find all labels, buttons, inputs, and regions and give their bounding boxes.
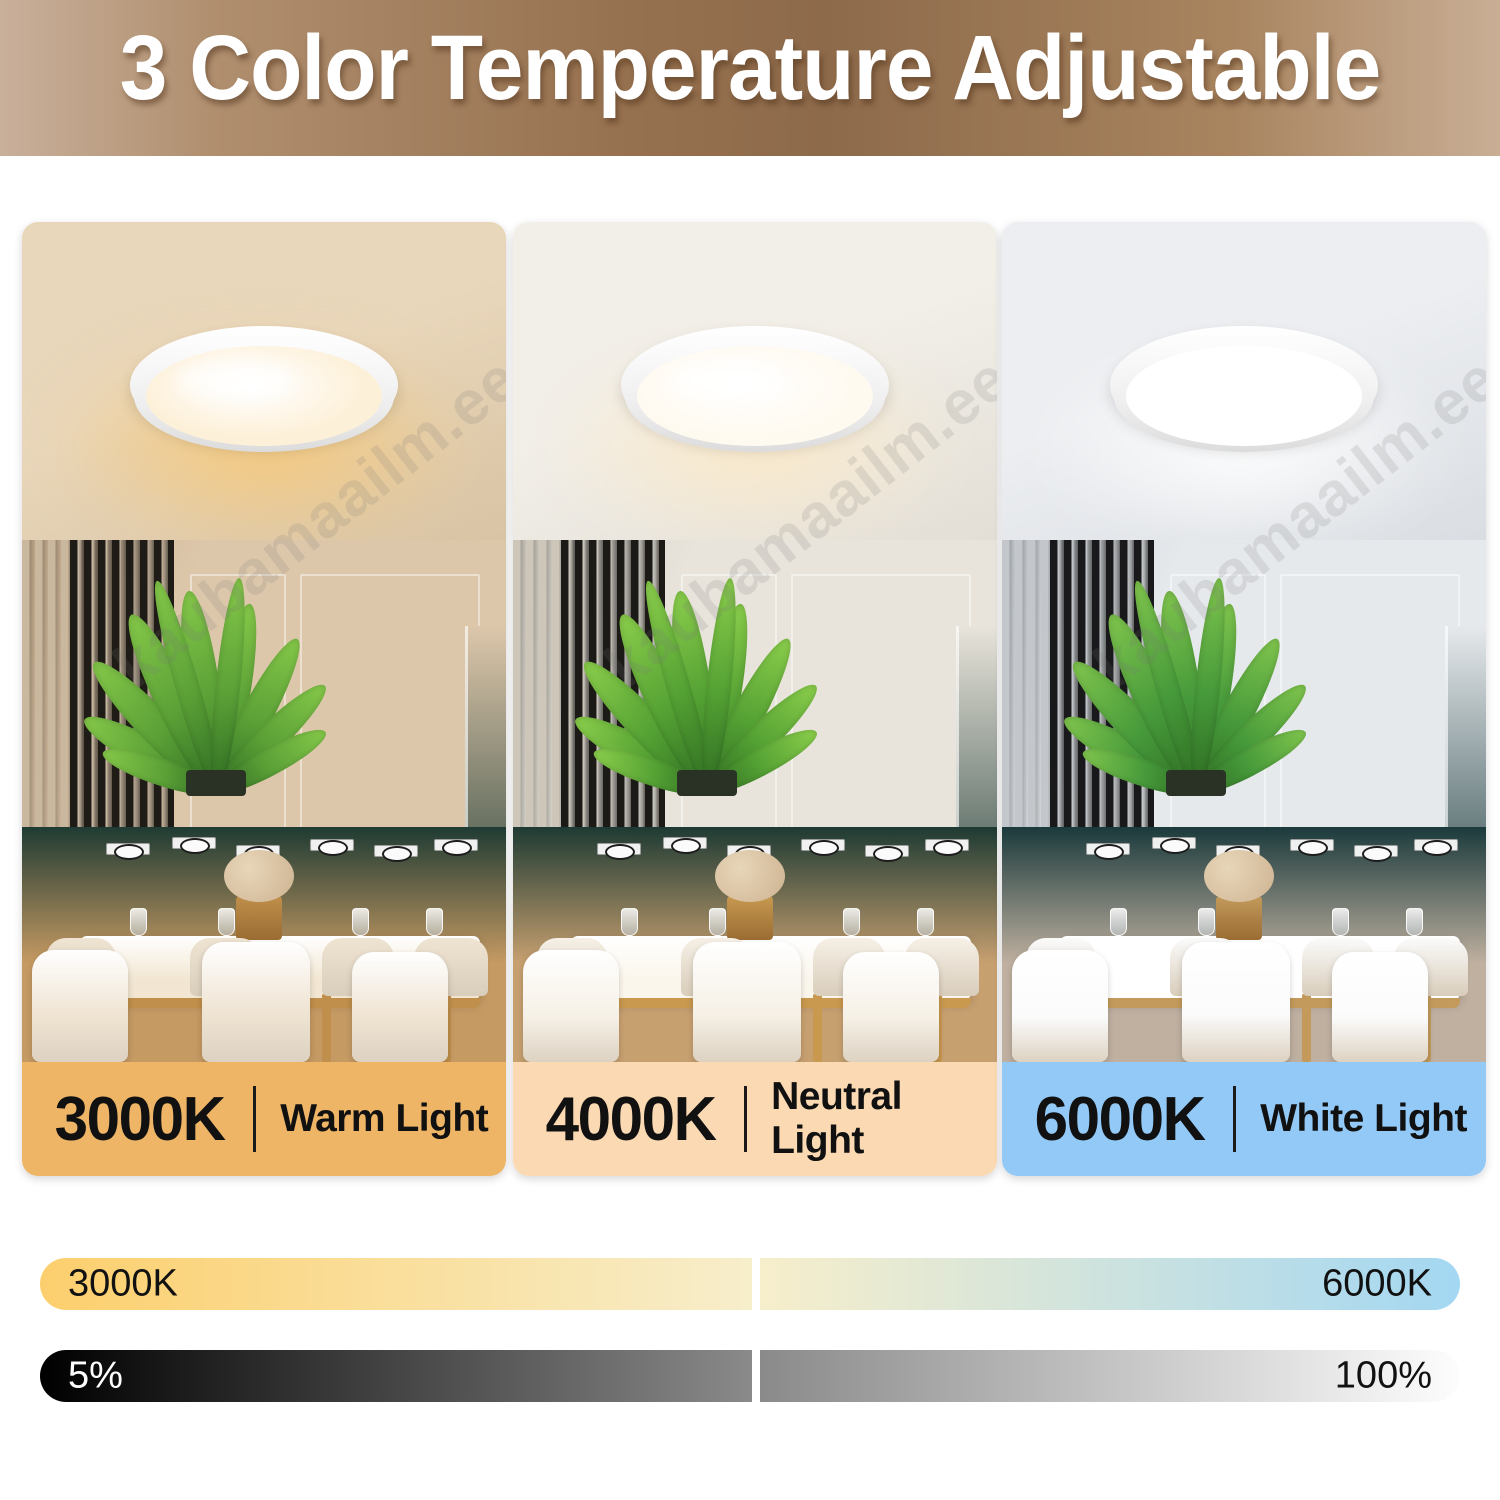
color-temperature-label: 3000K Warm Light [22,1062,506,1176]
spec-bars: 3000K 6000K 5% 100% [0,1258,1500,1442]
dim-bar-right-segment: 100% [760,1350,1460,1402]
kelvin-value: 3000K [55,1084,225,1155]
color-temperature-label: 6000K White Light [1002,1062,1486,1176]
scene-panel-neutral[interactable]: kaubamaailm.ee 4000K Neutral Light [513,222,997,1176]
scene-panel-warm[interactable]: kaubamaailm.ee 3000K Warm Light [22,222,506,1176]
dim-bar-left-segment: 5% [40,1350,752,1402]
dining-area [513,827,997,1062]
label-divider [744,1086,747,1152]
light-name: Neutral Light [771,1075,997,1163]
room-scene: kaubamaailm.ee [22,222,506,1062]
color-temperature-label: 4000K Neutral Light [513,1062,997,1176]
light-name: White Light [1260,1097,1467,1141]
kelvin-value: 4000K [546,1084,716,1155]
temp-bar-left-segment: 3000K [40,1258,752,1310]
kelvin-value: 6000K [1035,1084,1205,1155]
dining-area [22,827,506,1062]
label-divider [253,1086,256,1152]
room-scene: kaubamaailm.ee [1002,222,1486,1062]
scene-panel-white[interactable]: kaubamaailm.ee 6000K White Light [1002,222,1486,1176]
ceiling-lamp-fixture [1110,326,1378,458]
product-infographic: 3 Color Temperature Adjustable k [0,0,1500,1500]
ceiling-lamp-fixture [621,326,889,458]
ceiling-lamp-fixture [130,326,398,458]
dim-bar-max-label: 100% [1335,1355,1432,1398]
lamp-specular-highlight [667,360,787,400]
lamp-specular-highlight [1156,360,1276,400]
temp-bar-right-segment: 6000K [760,1258,1460,1310]
color-temperature-range-bar[interactable]: 3000K 6000K [0,1258,1500,1310]
dining-area [1002,827,1486,1062]
page-title: 3 Color Temperature Adjustable [53,16,1448,121]
label-divider [1233,1086,1236,1152]
temp-bar-max-label: 6000K [1322,1263,1432,1306]
lamp-specular-highlight [176,360,296,400]
room-scene: kaubamaailm.ee [513,222,997,1062]
light-name: Warm Light [280,1097,488,1141]
dim-bar-min-label: 5% [68,1355,123,1398]
scene-panel-row: kaubamaailm.ee 3000K Warm Light [0,222,1500,1176]
dimming-range-bar[interactable]: 5% 100% [0,1350,1500,1402]
header-banner: 3 Color Temperature Adjustable [0,0,1500,156]
temp-bar-min-label: 3000K [68,1263,178,1306]
